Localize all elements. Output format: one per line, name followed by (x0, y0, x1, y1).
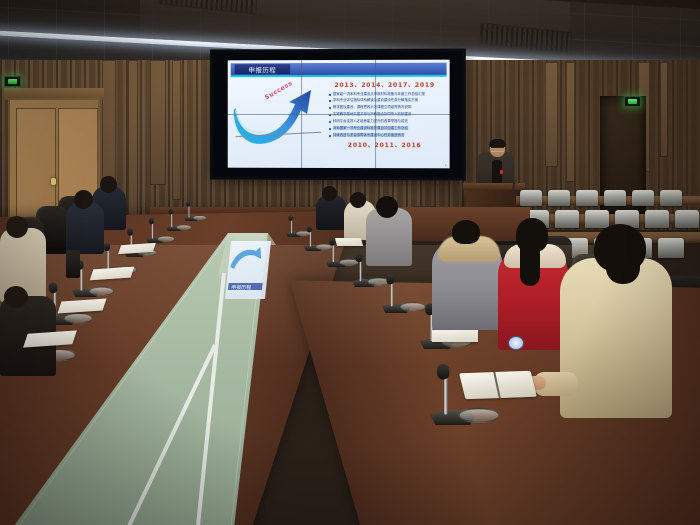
empty-seat (520, 190, 542, 206)
attendee-head (322, 186, 337, 201)
bullet-item-highlighted: 持续改进与质量保障体系建设中心任务推进情况 (329, 133, 443, 138)
attendee-head (74, 190, 93, 209)
bullet-dot-icon (329, 128, 331, 130)
wall-panel (660, 62, 668, 157)
empty-seat (604, 190, 626, 206)
conference-room-photo: 申报历程 Success (0, 0, 700, 525)
video-wall-seam (228, 114, 450, 115)
empty-seat (576, 190, 598, 206)
exit-sign-icon (4, 76, 21, 87)
slide-page-number: 6 (445, 163, 447, 167)
bullet-item: 学科专业评估指标体系解读及重点建设任务分解落实方案 (329, 98, 443, 103)
attendee-head (350, 192, 366, 208)
slide-header-bar: 申报历程 (231, 63, 447, 76)
document (432, 330, 478, 342)
ponytail (520, 244, 540, 286)
presenter-hair (489, 139, 506, 147)
screen-reflection: 申报历程 (225, 241, 271, 299)
water-bottle (66, 250, 80, 278)
lectern-top (463, 183, 525, 190)
presenter-badge (500, 170, 503, 174)
slide-body: 2013、2014、2017、2019 国家级一流本科专业建设点申报材料准备与年… (327, 80, 443, 164)
bullet-item: 科研平台支撑人才培养能力提升的改革举措与成效 (329, 119, 443, 123)
bullet-item: 教学团队建设、课程思政示范课程立项培育情况说明 (329, 105, 443, 109)
bullet-dot-icon (329, 121, 331, 123)
coat-badge (508, 336, 524, 350)
attendee-head (376, 196, 398, 218)
presentation-slide: 申报历程 Success (228, 60, 450, 169)
wall-panel (150, 60, 166, 185)
attendee-head (4, 286, 28, 308)
attendee-head (6, 216, 28, 238)
attendee (66, 202, 104, 254)
bullet-dot-icon (329, 135, 331, 137)
empty-seat (548, 190, 570, 206)
attendee-head (100, 176, 117, 193)
years-top: 2013、2014、2017、2019 (327, 80, 443, 89)
bullet-dot-icon (329, 94, 331, 96)
attendee-head (452, 220, 480, 244)
wall-panel (545, 62, 558, 167)
bullet-dot-icon (329, 107, 331, 109)
video-wall[interactable]: 申报历程 Success (213, 52, 463, 178)
bullet-item-highlighted: 对标国家一流专业建设标准开展自评自建工作总结 (329, 126, 443, 131)
slide-title-tab: 申报历程 (235, 64, 291, 74)
slide-title: 申报历程 (248, 64, 276, 74)
bullet-dot-icon (329, 100, 331, 102)
svg-text:申报历程: 申报历程 (231, 284, 252, 291)
wall-panel (172, 60, 181, 200)
wall-panel (128, 60, 138, 220)
bullet-item: 国家级一流本科专业建设点申报材料准备与年度工作总结汇报 (329, 91, 443, 96)
years-bottom: 2010、2011、2016 (327, 140, 443, 149)
empty-seat (632, 190, 654, 206)
notebook (335, 238, 363, 246)
slide-header-underline (231, 75, 447, 77)
wall-panel (566, 62, 575, 182)
empty-seat (660, 190, 682, 206)
door-handle-icon[interactable] (51, 178, 56, 185)
exit-sign-icon (624, 96, 641, 107)
glasses-icon (491, 147, 504, 152)
